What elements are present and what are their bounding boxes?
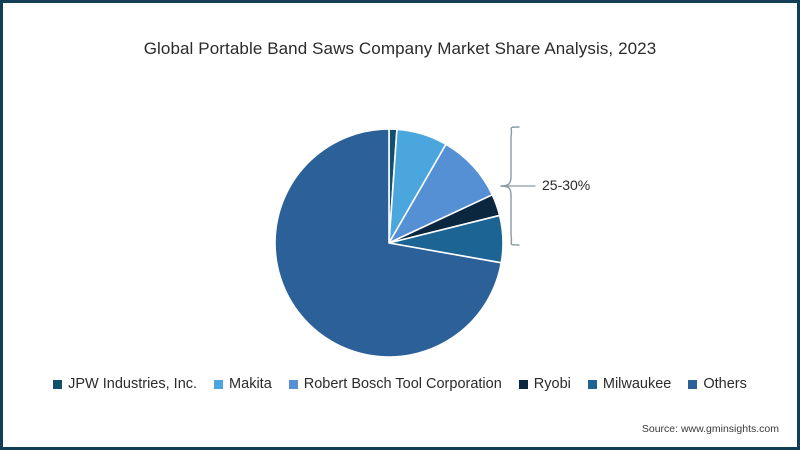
pie-chart — [273, 127, 505, 359]
legend-item[interactable]: Ryobi — [519, 377, 571, 392]
chart-legend: JPW Industries, Inc.MakitaRobert Bosch T… — [3, 377, 797, 392]
page-title: Global Portable Band Saws Company Market… — [3, 39, 797, 59]
legend-item[interactable]: Others — [688, 377, 747, 392]
legend-item[interactable]: Robert Bosch Tool Corporation — [289, 377, 502, 392]
source-caption: Source: www.gminsights.com — [642, 423, 779, 435]
bracket-value-label: 25-30% — [542, 177, 590, 193]
legend-swatch-icon — [688, 380, 697, 389]
range-bracket-svg — [497, 125, 537, 247]
pie-slices — [275, 129, 503, 357]
legend-swatch-icon — [53, 380, 62, 389]
legend-item[interactable]: JPW Industries, Inc. — [53, 377, 197, 392]
legend-swatch-icon — [289, 380, 298, 389]
legend-swatch-icon — [214, 380, 223, 389]
legend-item[interactable]: Milwaukee — [588, 377, 672, 392]
legend-item-label: Others — [703, 377, 747, 392]
legend-item[interactable]: Makita — [214, 377, 272, 392]
legend-item-label: Milwaukee — [603, 377, 672, 392]
chart-figure: Global Portable Band Saws Company Market… — [0, 0, 800, 450]
legend-item-label: Robert Bosch Tool Corporation — [304, 377, 502, 392]
legend-swatch-icon — [519, 380, 528, 389]
range-bracket — [497, 125, 537, 247]
legend-item-label: JPW Industries, Inc. — [68, 377, 197, 392]
legend-item-label: Makita — [229, 377, 272, 392]
legend-item-label: Ryobi — [534, 377, 571, 392]
legend-swatch-icon — [588, 380, 597, 389]
figure-inner: Global Portable Band Saws Company Market… — [3, 3, 797, 447]
pie-chart-svg — [273, 127, 505, 359]
